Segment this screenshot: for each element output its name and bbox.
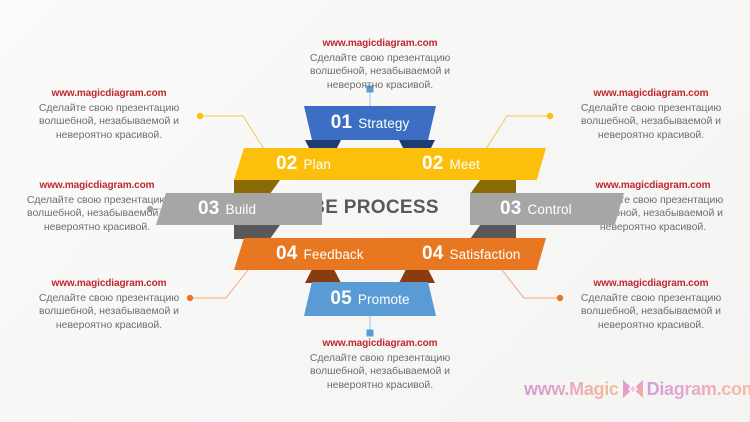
- step-control-label: Control: [528, 202, 572, 217]
- callout-lower-right-body: Сделайте свою презентацию волшебной, нез…: [556, 292, 746, 332]
- slide-canvas: www.magicdiagram.com Сделайте свою презе…: [0, 0, 750, 422]
- logo-prefix: www.Magic: [524, 379, 619, 400]
- logo-suffix: Diagram.com: [647, 379, 750, 400]
- magicdiagram-logo[interactable]: www.Magic Diagram.com: [524, 378, 750, 400]
- step-plan-label: Plan: [304, 157, 331, 172]
- callout-upper-right-url[interactable]: www.magicdiagram.com: [556, 88, 746, 101]
- callout-upper-left-url[interactable]: www.magicdiagram.com: [14, 88, 204, 101]
- callout-bottom-body: Сделайте свою презентацию волшебной, нез…: [285, 352, 475, 392]
- step-meet[interactable]: 02 Meet: [392, 148, 546, 180]
- callout-upper-right-body: Сделайте свою презентацию волшебной, нез…: [556, 102, 746, 142]
- callout-top: www.magicdiagram.com Сделайте свою презе…: [285, 38, 475, 92]
- callout-top-body: Сделайте свою презентацию волшебной, нез…: [285, 52, 475, 92]
- step-build-number: 03: [198, 198, 220, 220]
- fold-shadow-meet: [470, 180, 516, 194]
- callout-middle-right-url[interactable]: www.magicdiagram.com: [558, 180, 748, 193]
- step-meet-number: 02: [422, 153, 444, 175]
- step-control[interactable]: 03 Control: [470, 193, 624, 225]
- callout-lower-right: www.magicdiagram.com Сделайте свою презе…: [556, 278, 746, 332]
- step-meet-label: Meet: [450, 157, 480, 172]
- callout-upper-right: www.magicdiagram.com Сделайте свою презе…: [556, 88, 746, 142]
- step-feedback-label: Feedback: [304, 247, 364, 262]
- step-promote-label: Promote: [358, 292, 410, 307]
- step-strategy[interactable]: 01 Strategy: [304, 106, 436, 140]
- step-feedback-number: 04: [276, 243, 298, 265]
- callout-bottom: www.magicdiagram.com Сделайте свою презе…: [285, 338, 475, 392]
- step-build-label: Build: [226, 202, 257, 217]
- step-satisfaction-label: Satisfaction: [450, 247, 521, 262]
- callout-bottom-url[interactable]: www.magicdiagram.com: [285, 338, 475, 351]
- callout-lower-left-body: Сделайте свою презентацию волшебной, нез…: [14, 292, 204, 332]
- step-plan[interactable]: 02 Plan: [234, 148, 400, 180]
- step-strategy-label: Strategy: [358, 116, 409, 131]
- step-promote-number: 05: [330, 288, 352, 310]
- fold-shadow-build: [234, 225, 280, 239]
- step-strategy-number: 01: [331, 112, 353, 134]
- step-control-number: 03: [500, 198, 522, 220]
- callout-upper-left-body: Сделайте свою презентацию волшебной, нез…: [14, 102, 204, 142]
- callout-upper-left: www.magicdiagram.com Сделайте свою презе…: [14, 88, 204, 142]
- callout-lower-right-url[interactable]: www.magicdiagram.com: [556, 278, 746, 291]
- step-satisfaction-number: 04: [422, 243, 444, 265]
- step-feedback[interactable]: 04 Feedback: [234, 238, 400, 270]
- callout-middle-left-url[interactable]: www.magicdiagram.com: [2, 180, 192, 193]
- fold-shadow-plan: [234, 180, 280, 194]
- callout-lower-left-url[interactable]: www.magicdiagram.com: [14, 278, 204, 291]
- callout-lower-left: www.magicdiagram.com Сделайте свою презе…: [14, 278, 204, 332]
- step-plan-number: 02: [276, 153, 298, 175]
- step-promote[interactable]: 05 Promote: [304, 282, 436, 316]
- bowtie-diamond-icon: [620, 378, 646, 400]
- step-build[interactable]: 03 Build: [156, 193, 322, 225]
- fold-shadow-control: [470, 225, 516, 239]
- callout-top-url[interactable]: www.magicdiagram.com: [285, 38, 475, 51]
- step-satisfaction[interactable]: 04 Satisfaction: [392, 238, 546, 270]
